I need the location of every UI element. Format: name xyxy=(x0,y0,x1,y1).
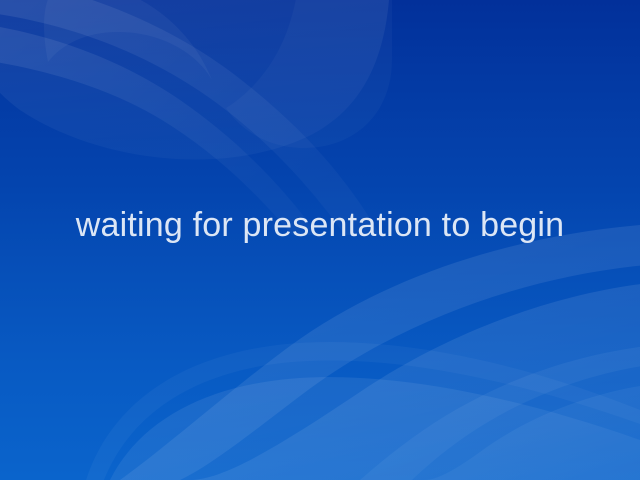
slide-message: waiting for presentation to begin xyxy=(0,203,640,247)
presentation-slide: waiting for presentation to begin xyxy=(0,0,640,480)
